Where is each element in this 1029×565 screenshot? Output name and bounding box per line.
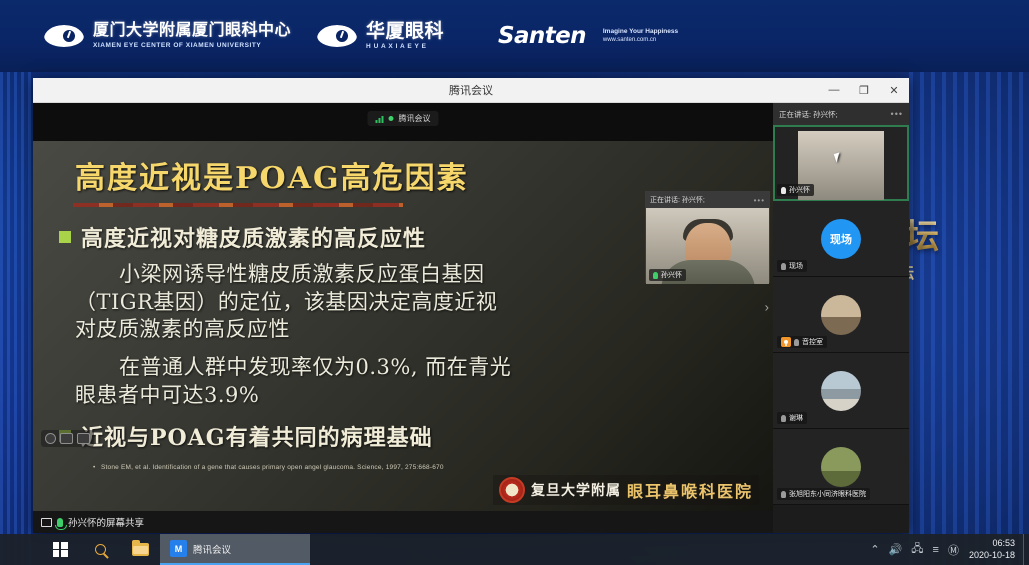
participant-tile-3[interactable]: 谢琳 [773, 353, 909, 429]
windows-taskbar[interactable]: M 腾讯会议 ⌃ 🔊 🖧 ≡ Ⓜ 06:53 2020-10-18 [0, 534, 1029, 565]
logo-huaxia-eye: 华厦眼科 H U A X I A E Y E [317, 22, 444, 51]
host-badge-icon [781, 337, 791, 347]
microphone-muted-icon [781, 415, 786, 422]
start-button[interactable] [40, 534, 80, 565]
santen-tagline-1: Imagine Your Happiness [603, 27, 678, 37]
pointer-tool-icon[interactable] [45, 433, 56, 444]
system-tray[interactable]: ⌃ 🔊 🖧 ≡ Ⓜ [864, 534, 965, 565]
logo-santen: Santen Imagine Your Happiness www.santen… [498, 23, 678, 49]
screen-root: 7 论坛 峰论坛 部美容分坛 18日 厦门眼科中心 阁 厦门大学附属厦门眼科中心… [0, 0, 1029, 565]
taskbar-clock[interactable]: 06:53 2020-10-18 [965, 538, 1023, 561]
self-view-name: 孙兴怀 [661, 270, 682, 280]
signal-bars-icon [376, 115, 384, 123]
participant-tile-4[interactable]: 张旭阳东小同济眼科医院 [773, 429, 909, 505]
share-status-badge: 腾讯会议 [368, 111, 439, 126]
participant-name-0: 孙兴怀 [789, 185, 810, 195]
logo-xiamen-cn: 附属厦门眼科中心 [159, 22, 291, 39]
speaking-header-label: 正在讲话: 孙兴怀; [779, 109, 838, 120]
participant-name-1: 现场 [789, 261, 803, 271]
slide-paragraph-1-line-2: （TIGR基因）的定位，该基因决定高度近视 [33, 289, 773, 317]
participant-name-chip: 孙兴怀 [777, 184, 814, 196]
speaking-header: 正在讲话: 孙兴怀; ••• [773, 103, 909, 125]
sponsor-logo-bar: 厦门大学附属厦门眼科中心 XIAMEN EYE CENTER OF XIAMEN… [0, 0, 1029, 72]
participant-tile-1[interactable]: 现场 现场 [773, 201, 909, 277]
logo-xiamen-prefix: 厦门大学 [93, 22, 159, 39]
network-icon[interactable]: 🖧 [911, 540, 923, 559]
self-view-speaking-label: 正在讲话: 孙兴怀; [650, 195, 705, 205]
santen-wordmark: Santen [498, 23, 586, 49]
participant-tile-2[interactable]: 音控室 [773, 277, 909, 353]
participant-name-chip: 音控室 [777, 336, 827, 348]
microphone-icon [653, 272, 658, 279]
participant-name-chip: 谢琳 [777, 412, 807, 424]
slide-title: 高度近视是POAG高危因素 [75, 153, 469, 197]
participant-name-2: 音控室 [802, 337, 823, 347]
screen-share-icon [41, 518, 52, 527]
eye-logo-icon [44, 25, 84, 47]
slide-paragraph-1-line-3: 对皮质激素的高反应性 [33, 316, 773, 344]
hospital-name-main: 眼耳鼻喉科医院 [627, 478, 753, 502]
panel-tool-icon[interactable] [77, 433, 90, 444]
participant-avatar [821, 295, 861, 335]
slide-paragraph-2-line-1: 在普通人群中发现率仅为0.3%, 而在青光 [33, 354, 773, 382]
speaking-header-more-icon[interactable]: ••• [891, 109, 903, 119]
logo-huaxia-en: H U A X I A E Y E [366, 43, 444, 50]
slide-bullet-1-text: 高度近视对糖皮质激素的高反应性 [81, 221, 426, 253]
participant-avatar [821, 371, 861, 411]
slide-bullet-2: 近视与POAG有着共同的病理基础 [33, 420, 773, 452]
microphone-muted-icon [781, 263, 786, 270]
ime-icon[interactable]: ≡ [933, 544, 939, 556]
logo-xiamen-en: XIAMEN EYE CENTER OF XIAMEN UNIVERSITY [93, 42, 291, 49]
window-title: 腾讯会议 [33, 82, 909, 98]
folder-icon [132, 543, 149, 556]
slide-bullet-2-text: 近视与POAG有着共同的病理基础 [81, 420, 433, 452]
window-titlebar[interactable]: 腾讯会议 — ❐ ✕ [33, 78, 909, 103]
search-icon [95, 544, 106, 555]
file-explorer-button[interactable] [120, 534, 160, 565]
hospital-logo: 复旦大学附属 眼耳鼻喉科医院 [493, 475, 759, 505]
share-annotation-toolbar[interactable] [41, 430, 94, 447]
taskbar-app-label: 腾讯会议 [193, 542, 231, 556]
share-status-bar: 孙兴怀的屏幕共享 [33, 511, 773, 533]
logo-xiamen-eye-center: 厦门大学附属厦门眼科中心 XIAMEN EYE CENTER OF XIAMEN… [44, 23, 291, 49]
participant-avatar: 现场 [821, 219, 861, 259]
hospital-seal-icon [499, 477, 525, 503]
onedrive-icon[interactable]: Ⓜ [948, 542, 959, 558]
microphone-icon [57, 518, 63, 527]
share-badge-label: 腾讯会议 [399, 113, 431, 124]
slide-citation-text: Stone EM, et al. Identification of a gen… [101, 464, 444, 471]
shared-screen-area[interactable]: 腾讯会议 高度近视是POAG高危因素 高度近视对糖皮质激素的高反应性 [33, 103, 773, 533]
screen-tool-icon[interactable] [60, 433, 73, 444]
bullet-square-icon [59, 231, 71, 243]
microphone-icon [781, 187, 786, 194]
eye-logo-icon [317, 25, 357, 47]
search-button[interactable] [80, 534, 120, 565]
santen-tagline: Imagine Your Happiness www.santen.com.cn [603, 27, 678, 46]
participant-tile-0[interactable]: 孙兴怀 [773, 125, 909, 201]
participant-name-chip: 现场 [777, 260, 807, 272]
share-status-text: 孙兴怀的屏幕共享 [68, 515, 144, 529]
recording-dot-icon [389, 116, 394, 121]
volume-icon[interactable]: 🔊 [889, 543, 903, 556]
slide-citation: •Stone EM, et al. Identification of a ge… [93, 464, 623, 471]
self-view-video: 孙兴怀 [646, 208, 769, 284]
santen-tagline-2: www.santen.com.cn [603, 37, 656, 43]
share-next-chevron-icon[interactable]: › [765, 300, 769, 315]
chevron-up-icon[interactable]: ⌃ [870, 543, 879, 556]
slide-divider [73, 203, 403, 207]
microphone-muted-icon [794, 339, 799, 346]
window-body: 腾讯会议 高度近视是POAG高危因素 高度近视对糖皮质激素的高反应性 [33, 103, 909, 533]
participant-strip[interactable]: 正在讲话: 孙兴怀; ••• 孙兴怀 现场 现场 [773, 103, 909, 533]
participant-name-3: 谢琳 [789, 413, 803, 423]
clock-date: 2020-10-18 [969, 550, 1015, 561]
clock-time: 06:53 [969, 538, 1015, 549]
background-led-right [909, 60, 1029, 565]
tencent-meeting-window[interactable]: 腾讯会议 — ❐ ✕ 腾讯会议 高度近视是POAG高危因素 [33, 78, 909, 533]
self-view-more-icon[interactable]: ••• [754, 196, 765, 205]
self-view-header: 正在讲话: 孙兴怀; ••• [646, 192, 769, 208]
tencent-meeting-icon: M [170, 540, 187, 557]
windows-logo-icon [53, 542, 68, 557]
self-view-name-chip: 孙兴怀 [649, 269, 686, 281]
participant-name-4: 张旭阳东小同济眼科医院 [789, 489, 866, 499]
slide-paragraph-2-line-2: 眼患者中可达3.9% [33, 382, 773, 410]
shared-screen-content: 腾讯会议 高度近视是POAG高危因素 高度近视对糖皮质激素的高反应性 [33, 103, 773, 511]
background-led-left [0, 60, 34, 565]
microphone-muted-icon [781, 491, 786, 498]
logo-huaxia-cn: 华厦眼科 [366, 22, 444, 42]
hospital-name-prefix: 复旦大学附属 [531, 480, 621, 500]
show-desktop-button[interactable] [1023, 534, 1029, 565]
participant-avatar [821, 447, 861, 487]
self-view-thumbnail[interactable]: 正在讲话: 孙兴怀; ••• 孙兴怀 [645, 191, 770, 283]
taskbar-app-tencent-meeting[interactable]: M 腾讯会议 [160, 534, 310, 565]
participant-name-chip: 张旭阳东小同济眼科医院 [777, 488, 870, 500]
